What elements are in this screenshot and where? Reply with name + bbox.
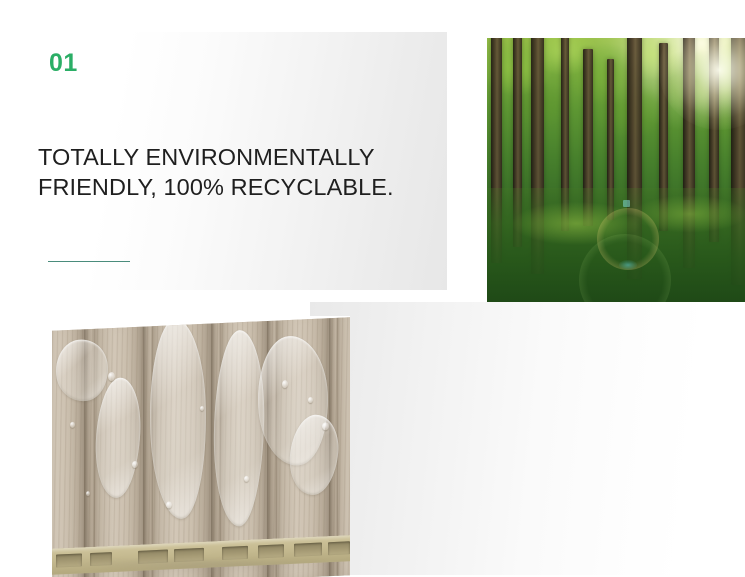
wpc-drop-shadow — [52, 561, 348, 577]
feature-block-02: 02 Waterproof, moisture-proof, mothproof… — [0, 300, 745, 577]
feature-01-headline: TOTALLY ENVIRONMENTALLY FRIENDLY, 100% R… — [38, 142, 438, 202]
feature-01-accent-rule — [48, 261, 130, 262]
feature-panels-page: 01 TOTALLY ENVIRONMENTALLY FRIENDLY, 100… — [0, 0, 745, 577]
wpc-panel-image — [40, 316, 350, 577]
forest-image — [487, 38, 745, 306]
feature-02-text-panel — [310, 302, 745, 575]
wpc-panel-body — [52, 317, 350, 577]
feature-01-number: 01 — [49, 51, 78, 76]
feature-block-01: 01 TOTALLY ENVIRONMENTALLY FRIENDLY, 100… — [0, 0, 745, 290]
forest-undergrowth — [487, 188, 745, 306]
